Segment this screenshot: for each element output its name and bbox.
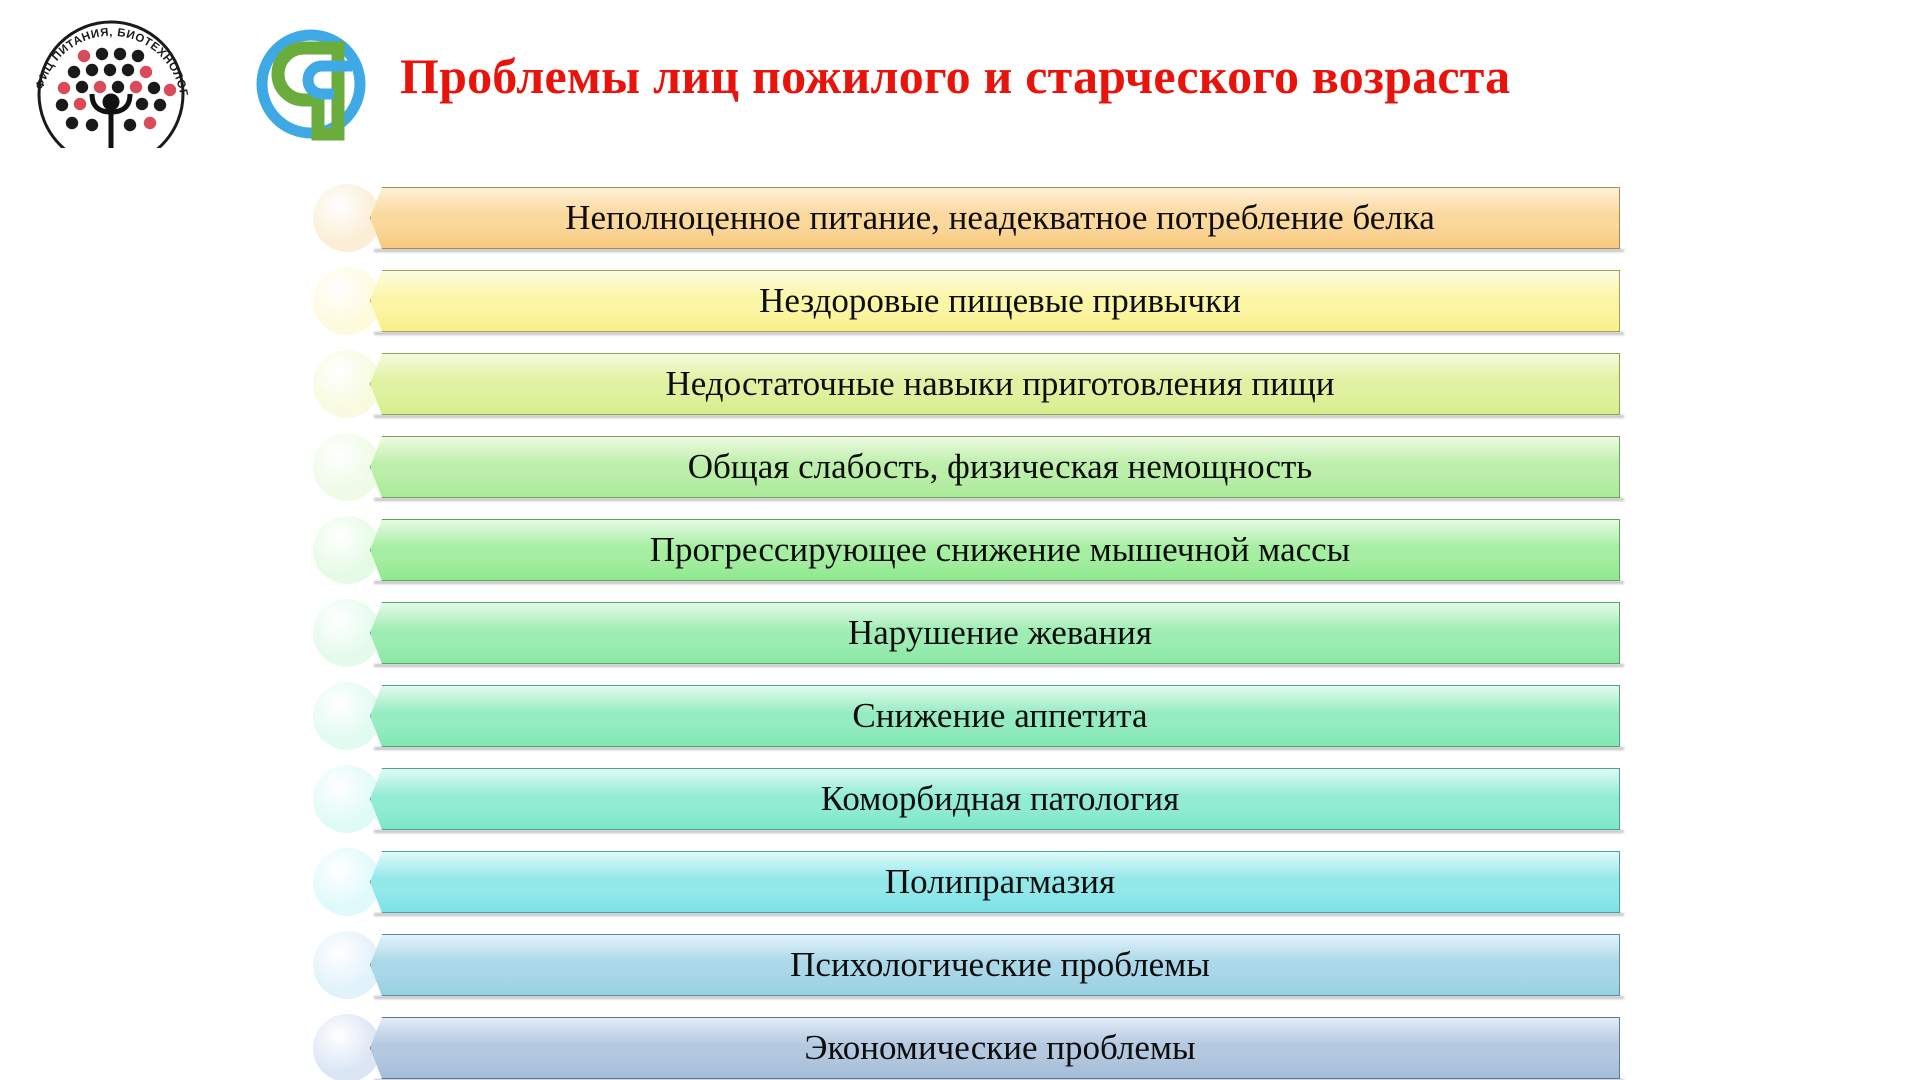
problem-label: Недостаточные навыки приготовления пищи	[655, 365, 1334, 403]
problem-label: Прогрессирующее снижение мышечной массы	[640, 531, 1350, 569]
problem-bar[interactable]: Снижение аппетита	[370, 685, 1620, 747]
bar-drop-shadow	[374, 913, 1624, 916]
bar-drop-shadow	[374, 996, 1624, 999]
blue-ring-green-c-logo	[252, 22, 370, 146]
problem-bar[interactable]: Прогрессирующее снижение мышечной массы	[370, 519, 1620, 581]
list-item[interactable]: Прогрессирующее снижение мышечной массы	[0, 510, 1920, 593]
problem-bar[interactable]: Психологические проблемы	[370, 934, 1620, 996]
problem-label: Коморбидная патология	[811, 780, 1179, 818]
list-item[interactable]: Общая слабость, физическая немощность	[0, 427, 1920, 510]
list-item[interactable]: Психологические проблемы	[0, 925, 1920, 1008]
bar-drop-shadow	[374, 747, 1624, 750]
bar-drop-shadow	[374, 249, 1624, 252]
list-item[interactable]: Нарушение жевания	[0, 593, 1920, 676]
list-item[interactable]: Снижение аппетита	[0, 676, 1920, 759]
list-item[interactable]: Неполноценное питание, неадекватное потр…	[0, 178, 1920, 261]
bar-drop-shadow	[374, 664, 1624, 667]
problem-label: Экономические проблемы	[794, 1029, 1195, 1067]
problem-list: Неполноценное питание, неадекватное потр…	[0, 178, 1920, 1080]
list-item[interactable]: Экономические проблемы	[0, 1008, 1920, 1080]
problem-bar[interactable]: Полипрагмазия	[370, 851, 1620, 913]
bar-drop-shadow	[374, 415, 1624, 418]
problem-label: Психологические проблемы	[780, 946, 1210, 984]
problem-label: Неполноценное питание, неадекватное потр…	[555, 199, 1435, 237]
problem-bar[interactable]: Нарушение жевания	[370, 602, 1620, 664]
fic-nutrition-emblem: ФИЦ ПИТАНИЯ, БИОТЕХНОЛОГИИ И БЕЗОПАСНОСТ…	[22, 8, 200, 148]
list-item[interactable]: Недостаточные навыки приготовления пищи	[0, 344, 1920, 427]
problem-label: Нарушение жевания	[838, 614, 1152, 652]
problem-bar[interactable]: Недостаточные навыки приготовления пищи	[370, 353, 1620, 415]
list-item[interactable]: Полипрагмазия	[0, 842, 1920, 925]
problem-bar[interactable]: Неполноценное питание, неадекватное потр…	[370, 187, 1620, 249]
bar-drop-shadow	[374, 581, 1624, 584]
bar-drop-shadow	[374, 332, 1624, 335]
bar-drop-shadow	[374, 830, 1624, 833]
problem-label: Нездоровые пищевые привычки	[749, 282, 1241, 320]
list-item[interactable]: Коморбидная патология	[0, 759, 1920, 842]
problem-label: Полипрагмазия	[875, 863, 1115, 901]
page-title: Проблемы лиц пожилого и старческого возр…	[400, 48, 1900, 104]
problem-bar[interactable]: Общая слабость, физическая немощность	[370, 436, 1620, 498]
list-item[interactable]: Нездоровые пищевые привычки	[0, 261, 1920, 344]
problem-bar[interactable]: Коморбидная патология	[370, 768, 1620, 830]
problem-bar[interactable]: Нездоровые пищевые привычки	[370, 270, 1620, 332]
problem-label: Снижение аппетита	[842, 697, 1147, 735]
slide-header: ФИЦ ПИТАНИЯ, БИОТЕХНОЛОГИИ И БЕЗОПАСНОСТ…	[0, 0, 1920, 150]
problem-label: Общая слабость, физическая немощность	[678, 448, 1313, 486]
slide-canvas: ФИЦ ПИТАНИЯ, БИОТЕХНОЛОГИИ И БЕЗОПАСНОСТ…	[0, 0, 1920, 1080]
bar-drop-shadow	[374, 498, 1624, 501]
problem-bar[interactable]: Экономические проблемы	[370, 1017, 1620, 1079]
